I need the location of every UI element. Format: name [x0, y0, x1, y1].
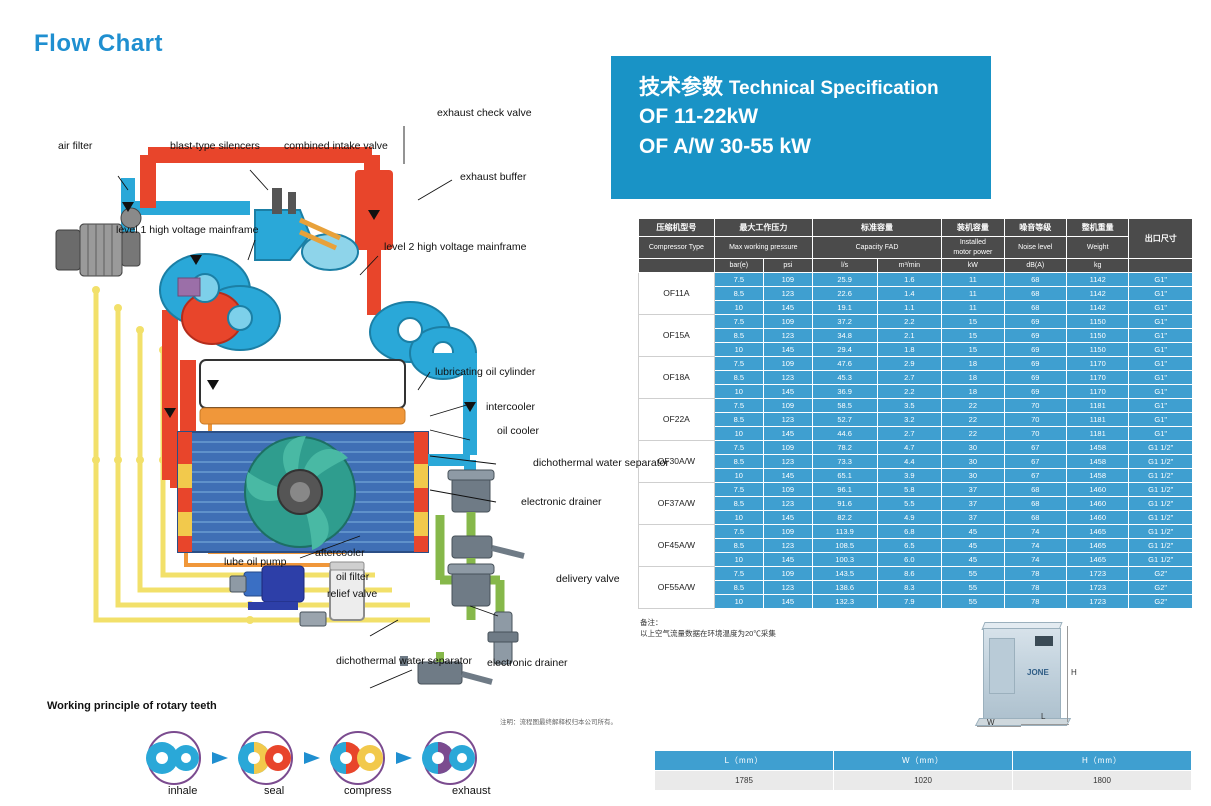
label-water-separator-bottom: dichothermal water separator [336, 655, 446, 668]
spec-cell: 4.9 [877, 511, 942, 525]
spec-cell: 1150 [1066, 329, 1128, 343]
spec-cell: 67 [1004, 469, 1066, 483]
label-combined-intake-valve: combined intake valve [284, 140, 388, 152]
specification-table: 压缩机型号 最大工作压力 标准容量 装机容量 噪音等级 整机重量 出口尺寸 Co… [638, 218, 1193, 609]
table-row: 1014519.11.111681142G1" [639, 301, 1193, 315]
table-row: OF11A7.510925.91.611681142G1" [639, 273, 1193, 287]
spec-cell: 78.2 [812, 441, 877, 455]
spec-cell: G1 1/2" [1129, 525, 1193, 539]
spec-cell: 1458 [1066, 455, 1128, 469]
head-en-pressure: Max working pressure [714, 237, 812, 259]
dim-label-l: L [1041, 712, 1045, 721]
table-row: OF55A/W7.5109143.58.655781723G2" [639, 567, 1193, 581]
head-cn-capacity: 标准容量 [812, 219, 941, 237]
spec-cell: 30 [942, 455, 1004, 469]
spec-cell: 8.5 [714, 581, 763, 595]
banner-line2: OF 11-22kW [639, 102, 971, 131]
table-row: 8.512373.34.430671458G1 1/2" [639, 455, 1193, 469]
spec-cell: G1 1/2" [1129, 483, 1193, 497]
spec-cell: 55 [942, 581, 1004, 595]
spec-cell: 11 [942, 301, 1004, 315]
spec-table-body: OF11A7.510925.91.611681142G1"8.512322.61… [639, 273, 1193, 609]
label-level2-mainframe: level 2 high voltage mainframe [384, 241, 526, 253]
spec-cell: 70 [1004, 413, 1066, 427]
spec-cell: 1150 [1066, 343, 1128, 357]
spec-cell: 15 [942, 315, 1004, 329]
spec-cell: 30 [942, 441, 1004, 455]
dim-line-l [1021, 724, 1069, 725]
label-intercooler: intercooler [486, 401, 535, 413]
spec-cell: 69 [1004, 315, 1066, 329]
dim-value-row: 1785 1020 1800 [655, 771, 1192, 791]
spec-cell: 47.6 [812, 357, 877, 371]
spec-cell: 145 [763, 385, 812, 399]
spec-cell: 1142 [1066, 273, 1128, 287]
spec-cell: 74 [1004, 553, 1066, 567]
head-cn-outlet: 出口尺寸 [1129, 219, 1193, 259]
head-en-noise: Noise level [1004, 237, 1066, 259]
table-row: 8.5123108.56.545741465G1 1/2" [639, 539, 1193, 553]
head-unit-dba: dB(A) [1004, 259, 1066, 273]
flow-diagram: air filter blast-type silencers combined… [0, 60, 611, 740]
table-row: 10145100.36.045741465G1 1/2" [639, 553, 1193, 567]
spec-cell: 109 [763, 399, 812, 413]
spec-cell: 6.8 [877, 525, 942, 539]
spec-cell: G1" [1129, 329, 1193, 343]
spec-cell: 74 [1004, 525, 1066, 539]
spec-cell: 37 [942, 497, 1004, 511]
spec-cell: 109 [763, 357, 812, 371]
spec-cell: 1.4 [877, 287, 942, 301]
principle-title: Working principle of rotary teeth [47, 700, 217, 712]
table-row: 8.512352.73.222701181G1" [639, 413, 1193, 427]
spec-model-cell: OF45A/W [639, 525, 715, 567]
arrow-1 [212, 752, 228, 764]
table-row: 1014565.13.930671458G1 1/2" [639, 469, 1193, 483]
air-filter-assembly [56, 208, 141, 276]
spec-cell: 1181 [1066, 427, 1128, 441]
table-row: OF45A/W7.5109113.96.845741465G1 1/2" [639, 525, 1193, 539]
label-electronic-drainer-bottom: electronic drainer [487, 657, 568, 669]
dim-label-w: W [987, 718, 995, 727]
spec-cell: 109 [763, 483, 812, 497]
spec-cell: 37 [942, 511, 1004, 525]
page-root: Flow Chart 技术参数 Technical Specification … [0, 0, 1211, 806]
table-row: OF37A/W7.510996.15.837681460G1 1/2" [639, 483, 1193, 497]
spec-cell: 1170 [1066, 385, 1128, 399]
spec-note-line1: 备注： [640, 617, 776, 628]
spec-cell: 145 [763, 343, 812, 357]
page-title: Flow Chart [34, 30, 163, 58]
spec-cell: 15 [942, 343, 1004, 357]
spec-cell: 22 [942, 427, 1004, 441]
spec-cell: 7.5 [714, 441, 763, 455]
spec-cell: 45 [942, 553, 1004, 567]
head-unit-outlet-blank [1129, 259, 1193, 273]
spec-cell: 15 [942, 329, 1004, 343]
spec-cell: 145 [763, 469, 812, 483]
spec-cell: 1.1 [877, 301, 942, 315]
label-oil-filter: oil filter [336, 571, 369, 583]
spec-note: 备注： 以上空气流量数据在环境温度为20℃采集 [640, 617, 776, 640]
spec-cell: 2.1 [877, 329, 942, 343]
spec-cell: 96.1 [812, 483, 877, 497]
spec-model-cell: OF18A [639, 357, 715, 399]
spec-cell: 69 [1004, 357, 1066, 371]
spec-cell: 69 [1004, 371, 1066, 385]
table-row: OF15A7.510937.22.215691150G1" [639, 315, 1193, 329]
spec-model-cell: OF11A [639, 273, 715, 315]
head-en-weight: Weight [1066, 237, 1128, 259]
spec-cell: 2.2 [877, 385, 942, 399]
head-unit-psi: psi [763, 259, 812, 273]
head-unit-m3min: m³/min [877, 259, 942, 273]
label-exhaust-check-valve: exhaust check valve [437, 107, 532, 119]
copyright-note: 注明：流程图最终解释权归本公司所有。 [500, 716, 617, 726]
table-row: 8.512391.65.537681460G1 1/2" [639, 497, 1193, 511]
head-en-model: Compressor Type [639, 237, 715, 259]
spec-head-row-en: Compressor Type Max working pressure Cap… [639, 237, 1193, 259]
spec-cell: 123 [763, 329, 812, 343]
spec-cell: 3.9 [877, 469, 942, 483]
relief-valve [300, 612, 326, 626]
spec-cell: G1 1/2" [1129, 455, 1193, 469]
table-row: 8.512345.32.718691170G1" [639, 371, 1193, 385]
spec-cell: 8.3 [877, 581, 942, 595]
spec-cell: 7.5 [714, 483, 763, 497]
spec-cell: 1170 [1066, 357, 1128, 371]
spec-cell: 69 [1004, 385, 1066, 399]
spec-cell: G1" [1129, 399, 1193, 413]
spec-cell: 1460 [1066, 511, 1128, 525]
spec-cell: 78 [1004, 595, 1066, 609]
spec-cell: 55 [942, 595, 1004, 609]
spec-cell: 19.1 [812, 301, 877, 315]
spec-cell: 5.8 [877, 483, 942, 497]
spec-cell: 29.4 [812, 343, 877, 357]
spec-cell: 8.5 [714, 371, 763, 385]
spec-cell: 55 [942, 567, 1004, 581]
spec-cell: 68 [1004, 287, 1066, 301]
spec-cell: G1 1/2" [1129, 511, 1193, 525]
spec-cell: 123 [763, 455, 812, 469]
spec-cell: 1723 [1066, 581, 1128, 595]
spec-cell: 2.7 [877, 371, 942, 385]
cooler-block [178, 432, 428, 552]
spec-cell: 1460 [1066, 483, 1128, 497]
rotor-label-compress: compress [344, 785, 392, 797]
spec-cell: 109 [763, 441, 812, 455]
spec-cell: 22 [942, 399, 1004, 413]
spec-cell: 52.7 [812, 413, 877, 427]
table-row: OF18A7.510947.62.918691170G1" [639, 357, 1193, 371]
spec-cell: 45 [942, 525, 1004, 539]
table-row: 1014536.92.218691170G1" [639, 385, 1193, 399]
spec-cell: 70 [1004, 399, 1066, 413]
banner-line1-cn: 技术参数 [639, 76, 723, 99]
water-separator-bottom [448, 564, 494, 606]
spec-cell: 22 [942, 413, 1004, 427]
dim-head-w: W（mm） [834, 751, 1013, 771]
spec-cell: 143.5 [812, 567, 877, 581]
head-unit-bar: bar(e) [714, 259, 763, 273]
spec-cell: 1465 [1066, 539, 1128, 553]
label-water-separator-top: dichothermal water separator [533, 457, 611, 470]
spec-cell: G1 1/2" [1129, 497, 1193, 511]
spec-cell: 69 [1004, 329, 1066, 343]
spec-cell: 37 [942, 483, 1004, 497]
table-row: OF22A7.510958.53.522701181G1" [639, 399, 1193, 413]
spec-cell: 6.5 [877, 539, 942, 553]
spec-cell: 10 [714, 553, 763, 567]
spec-cell: 145 [763, 427, 812, 441]
spec-cell: 37.2 [812, 315, 877, 329]
spec-cell: G1" [1129, 343, 1193, 357]
spec-cell: 44.6 [812, 427, 877, 441]
spec-cell: 2.9 [877, 357, 942, 371]
spec-cell: G1" [1129, 357, 1193, 371]
lubricating-oil-cylinder [200, 360, 405, 424]
spec-cell: 8.5 [714, 287, 763, 301]
spec-cell: 8.5 [714, 413, 763, 427]
label-exhaust-buffer: exhaust buffer [460, 171, 526, 183]
dim-head-row: L（mm） W（mm） H（mm） [655, 751, 1192, 771]
spec-cell: 100.3 [812, 553, 877, 567]
spec-cell: 1465 [1066, 525, 1128, 539]
spec-cell: 123 [763, 371, 812, 385]
spec-cell: 45 [942, 539, 1004, 553]
machine-display [1035, 636, 1053, 646]
rotor-label-seal: seal [264, 785, 284, 797]
spec-cell: 70 [1004, 427, 1066, 441]
spec-cell: 145 [763, 301, 812, 315]
machine-panel [989, 638, 1015, 694]
spec-cell: G2" [1129, 595, 1193, 609]
dim-value-w: 1020 [834, 771, 1013, 791]
spec-cell: G1" [1129, 427, 1193, 441]
spec-cell: 74 [1004, 539, 1066, 553]
spec-cell: 1181 [1066, 413, 1128, 427]
spec-cell: 7.5 [714, 315, 763, 329]
dimension-table: L（mm） W（mm） H（mm） 1785 1020 1800 [654, 750, 1192, 791]
spec-cell: G1" [1129, 273, 1193, 287]
spec-cell: G2" [1129, 581, 1193, 595]
head-en-power: Installedmotor power [942, 237, 1004, 259]
spec-cell: 1170 [1066, 371, 1128, 385]
spec-cell: 123 [763, 581, 812, 595]
spec-cell: 113.9 [812, 525, 877, 539]
spec-cell: 68 [1004, 497, 1066, 511]
spec-cell: 68 [1004, 483, 1066, 497]
spec-cell: 67 [1004, 455, 1066, 469]
spec-cell: 7.5 [714, 399, 763, 413]
rotor-step-2 [238, 732, 292, 784]
spec-cell: 7.9 [877, 595, 942, 609]
dim-value-l: 1785 [655, 771, 834, 791]
dim-line-h [1067, 626, 1068, 722]
spec-cell: 6.0 [877, 553, 942, 567]
spec-cell: G1 1/2" [1129, 539, 1193, 553]
spec-cell: 25.9 [812, 273, 877, 287]
spec-cell: 7.5 [714, 567, 763, 581]
combined-intake-valve [255, 188, 358, 270]
spec-model-cell: OF22A [639, 399, 715, 441]
label-electronic-drainer-top: electronic drainer [521, 496, 602, 508]
spec-cell: 10 [714, 385, 763, 399]
spec-cell: 45.3 [812, 371, 877, 385]
head-cn-noise: 噪音等级 [1004, 219, 1066, 237]
spec-model-cell: OF55A/W [639, 567, 715, 609]
spec-cell: 30 [942, 469, 1004, 483]
spec-cell: G1 1/2" [1129, 553, 1193, 567]
technical-specification-banner: 技术参数 Technical Specification OF 11-22kW … [611, 56, 991, 199]
spec-cell: 10 [714, 469, 763, 483]
spec-cell: 2.2 [877, 315, 942, 329]
spec-cell: 18 [942, 385, 1004, 399]
table-row: 10145132.37.955781723G2" [639, 595, 1193, 609]
spec-cell: 69 [1004, 343, 1066, 357]
spec-cell: 7.5 [714, 525, 763, 539]
spec-cell: 10 [714, 427, 763, 441]
spec-cell: 2.7 [877, 427, 942, 441]
dim-label-h: H [1071, 668, 1077, 677]
spec-cell: 3.2 [877, 413, 942, 427]
head-cn-model: 压缩机型号 [639, 219, 715, 237]
arrow-2 [304, 752, 320, 764]
rotor-label-exhaust: exhaust [452, 785, 491, 797]
head-cn-power: 装机容量 [942, 219, 1004, 237]
spec-cell: 11 [942, 287, 1004, 301]
spec-cell: 123 [763, 287, 812, 301]
spec-cell: 8.5 [714, 455, 763, 469]
spec-cell: 68 [1004, 273, 1066, 287]
spec-cell: 145 [763, 511, 812, 525]
label-air-filter: air filter [58, 140, 92, 152]
label-level1-mainframe: level 1 high voltage mainframe [116, 224, 258, 236]
spec-cell: 58.5 [812, 399, 877, 413]
table-row: 8.512322.61.411681142G1" [639, 287, 1193, 301]
head-unit-kg: kg [1066, 259, 1128, 273]
spec-cell: 123 [763, 497, 812, 511]
spec-cell: 7.5 [714, 357, 763, 371]
spec-cell: 4.4 [877, 455, 942, 469]
label-delivery-valve: delivery valve [556, 573, 620, 585]
spec-cell: 10 [714, 301, 763, 315]
rotor-step-3 [330, 732, 384, 784]
spec-cell: G1" [1129, 385, 1193, 399]
spec-cell: G1" [1129, 287, 1193, 301]
spec-cell: 34.8 [812, 329, 877, 343]
spec-cell: 8.5 [714, 497, 763, 511]
spec-cell: 1.8 [877, 343, 942, 357]
table-row: 1014544.62.722701181G1" [639, 427, 1193, 441]
spec-cell: 8.6 [877, 567, 942, 581]
label-lubricating-oil-cylinder: lubricating oil cylinder [435, 366, 535, 378]
table-row: 8.512334.82.115691150G1" [639, 329, 1193, 343]
spec-cell: 4.7 [877, 441, 942, 455]
spec-cell: G1" [1129, 371, 1193, 385]
table-row: OF30A/W7.510978.24.730671458G1 1/2" [639, 441, 1193, 455]
head-cn-weight: 整机重量 [1066, 219, 1128, 237]
machine-illustration: JONE H W L [975, 620, 1080, 730]
spec-cell: 11 [942, 273, 1004, 287]
spec-head-row-cn: 压缩机型号 最大工作压力 标准容量 装机容量 噪音等级 整机重量 出口尺寸 [639, 219, 1193, 237]
spec-cell: 1142 [1066, 301, 1128, 315]
spec-cell: G1" [1129, 301, 1193, 315]
label-oil-cooler: oil cooler [497, 425, 539, 437]
spec-cell: 78 [1004, 581, 1066, 595]
spec-cell: 1150 [1066, 315, 1128, 329]
spec-cell: 82.2 [812, 511, 877, 525]
rotor-label-inhale: inhale [168, 785, 197, 797]
flow-diagram-svg [0, 60, 611, 740]
spec-cell: 123 [763, 413, 812, 427]
head-unit-kw: kW [942, 259, 1004, 273]
machine-brand: JONE [1027, 668, 1049, 677]
label-relief-valve: relief valve [327, 588, 377, 600]
spec-cell: 132.3 [812, 595, 877, 609]
spec-cell: 10 [714, 343, 763, 357]
spec-cell: 109 [763, 567, 812, 581]
spec-cell: 1458 [1066, 441, 1128, 455]
spec-cell: 7.5 [714, 273, 763, 287]
spec-cell: G1" [1129, 413, 1193, 427]
spec-cell: 67 [1004, 441, 1066, 455]
spec-cell: 1142 [1066, 287, 1128, 301]
spec-cell: G1" [1129, 315, 1193, 329]
dim-head-h: H（mm） [1013, 751, 1192, 771]
spec-cell: 78 [1004, 567, 1066, 581]
head-cn-pressure: 最大工作压力 [714, 219, 812, 237]
spec-cell: G1 1/2" [1129, 441, 1193, 455]
spec-cell: 1181 [1066, 399, 1128, 413]
spec-cell: 145 [763, 595, 812, 609]
spec-cell: 68 [1004, 511, 1066, 525]
arrow-3 [396, 752, 412, 764]
spec-cell: 108.5 [812, 539, 877, 553]
spec-model-cell: OF15A [639, 315, 715, 357]
spec-cell: 10 [714, 595, 763, 609]
spec-table-head: 压缩机型号 最大工作压力 标准容量 装机容量 噪音等级 整机重量 出口尺寸 Co… [639, 219, 1193, 273]
label-blast-type-silencers: blast-type silencers [170, 140, 260, 152]
banner-line3: OF A/W 30-55 kW [639, 132, 971, 161]
spec-cell: 109 [763, 315, 812, 329]
spec-cell: 109 [763, 273, 812, 287]
spec-cell: 91.6 [812, 497, 877, 511]
spec-model-cell: OF37A/W [639, 483, 715, 525]
table-row: 8.5123138.68.355781723G2" [639, 581, 1193, 595]
table-row: 1014529.41.815691150G1" [639, 343, 1193, 357]
spec-cell: 123 [763, 539, 812, 553]
spec-cell: 1465 [1066, 553, 1128, 567]
spec-cell: 1723 [1066, 595, 1128, 609]
spec-cell: G2" [1129, 567, 1193, 581]
table-row: 1014582.24.937681460G1 1/2" [639, 511, 1193, 525]
head-unit-ls: l/s [812, 259, 877, 273]
spec-cell: 138.6 [812, 581, 877, 595]
dim-value-h: 1800 [1013, 771, 1192, 791]
spec-cell: 1.6 [877, 273, 942, 287]
banner-line1-en: Technical Specification [729, 78, 939, 99]
spec-head-row-units: bar(e) psi l/s m³/min kW dB(A) kg [639, 259, 1193, 273]
rotor-step-1 [146, 732, 200, 784]
dim-head-l: L（mm） [655, 751, 834, 771]
rotor-step-4 [422, 732, 476, 784]
spec-cell: 18 [942, 371, 1004, 385]
spec-cell: 5.5 [877, 497, 942, 511]
spec-cell: 1460 [1066, 497, 1128, 511]
spec-cell: 22.6 [812, 287, 877, 301]
